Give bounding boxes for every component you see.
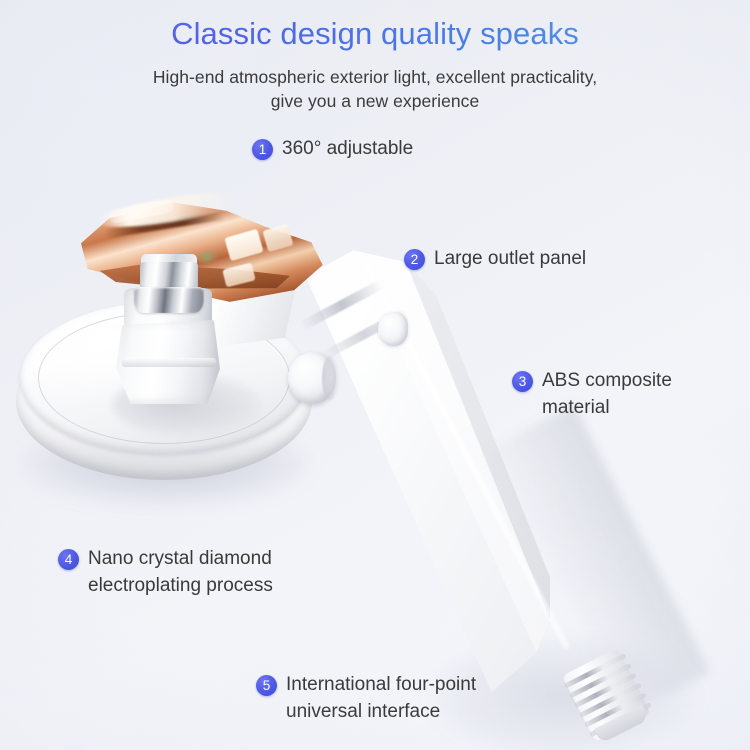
callout-label-2: Large outlet panel [434,246,586,273]
callout-badge-3: 3 [512,371,533,392]
callout-1: 1 360° adjustable [252,136,413,163]
callout-badge-5: 5 [256,675,277,696]
chrome-swivel-band [134,287,204,313]
callout-badge-4: 4 [58,549,79,570]
callout-badge-2: 2 [404,249,425,270]
hex-nut-ridge [122,358,216,367]
callout-label-4: Nano crystal diamond electroplating proc… [88,546,273,600]
callout-label-3: ABS composite material [542,368,672,422]
callout-3: 3 ABS composite material [512,368,672,422]
callout-4: 4 Nano crystal diamond electroplating pr… [58,546,273,600]
callout-label-5: International four-point universal inter… [286,672,476,726]
pivot-knob-rim [322,356,338,400]
callout-5: 5 International four-point universal int… [256,672,476,726]
product-feature-image: Classic design quality speaks High-end a… [0,0,750,750]
callout-badge-1: 1 [252,139,273,160]
callout-label-1: 360° adjustable [282,136,413,163]
body-side-tab [378,312,408,346]
callout-2: 2 Large outlet panel [404,246,586,273]
